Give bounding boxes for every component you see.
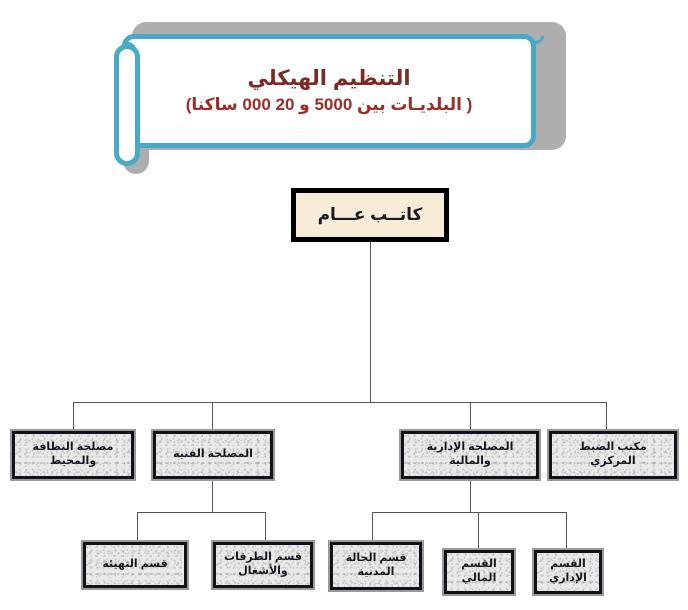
connector-admin-bus: [372, 512, 566, 513]
node-administrative-department[interactable]: القسم الإداري: [534, 550, 602, 594]
connector-drop-cleaning: [73, 402, 74, 431]
node-planning-department[interactable]: قسم التهيئة: [83, 542, 187, 588]
connector-admin-stem: [470, 479, 471, 512]
connector-drop-roads: [265, 512, 266, 542]
banner-body: التنظيم الهيكلي ( البلديـات بين 5000 و 2…: [122, 34, 536, 148]
node-cleaning-environment-service-label: مصلحة النظافة والمحيط: [29, 439, 118, 471]
org-chart-page: التنظيم الهيكلي ( البلديـات بين 5000 و 2…: [0, 0, 688, 610]
connector-technical-stem: [212, 479, 213, 512]
connector-drop-administrative: [566, 512, 567, 550]
connector-drop-admin: [470, 402, 471, 431]
connector-root-stem: [370, 241, 371, 402]
node-admin-finance-service[interactable]: المصلحة الإدارية والمالية: [401, 431, 539, 479]
connector-main-bus: [73, 402, 607, 403]
node-cleaning-environment-service[interactable]: مصلحة النظافة والمحيط: [12, 431, 134, 479]
node-roads-works-department-label: قسم الطرقات والأشغال: [220, 549, 306, 581]
node-civil-status-department-label: قسم الحالة المدنية: [342, 550, 411, 582]
node-central-registry-office-label: مكتب الضبط المركزي: [552, 439, 674, 471]
title-banner: التنظيم الهيكلي ( البلديـات بين 5000 و 2…: [114, 22, 566, 168]
node-administrative-department-label: القسم الإداري: [545, 556, 591, 588]
connector-drop-civil-status: [372, 512, 373, 542]
node-technical-service[interactable]: المصلحة الفنية: [153, 431, 273, 479]
connector-drop-technical: [212, 402, 213, 431]
node-civil-status-department[interactable]: قسم الحالة المدنية: [330, 542, 422, 590]
node-secretary-general[interactable]: كاتــب عـــام: [292, 189, 448, 241]
node-admin-finance-service-label: المصلحة الإدارية والمالية: [423, 439, 518, 471]
node-technical-service-label: المصلحة الفنية: [169, 446, 257, 464]
node-roads-works-department[interactable]: قسم الطرقات والأشغال: [213, 542, 313, 588]
node-financial-department[interactable]: القسم المالي: [444, 550, 514, 594]
connector-technical-bus: [137, 512, 265, 513]
banner-title: التنظيم الهيكلي: [247, 67, 410, 90]
node-central-registry-office[interactable]: مكتب الضبط المركزي: [549, 431, 677, 479]
connector-drop-financial: [478, 512, 479, 550]
connector-drop-registry: [606, 402, 607, 431]
node-secretary-general-label: كاتــب عـــام: [314, 202, 427, 227]
banner-scroll-rod: [114, 44, 140, 166]
node-financial-department-label: القسم المالي: [457, 556, 501, 588]
connector-drop-planning: [137, 512, 138, 542]
banner-subtitle: ( البلديـات بين 5000 و 20 000 ساكنا): [186, 96, 473, 115]
node-planning-department-label: قسم التهيئة: [98, 556, 171, 574]
